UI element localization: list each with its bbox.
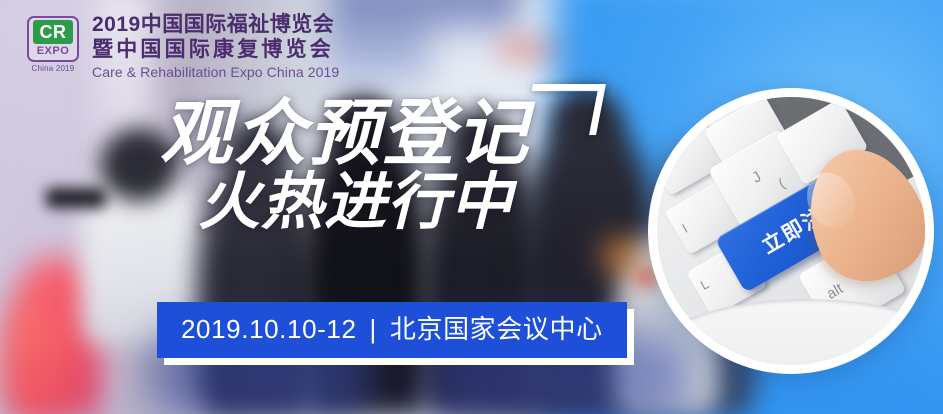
event-info-text: 2019.10.10-12|北京国家会议中心 xyxy=(181,313,603,345)
background-accent-orange xyxy=(600,236,644,276)
expo-logo-lockup: CR EXPO China 2019 2019中国国际福祉博览会 暨中国国际康复… xyxy=(24,12,339,81)
event-date: 2019.10.10-12 xyxy=(181,314,357,344)
expo-title-en: Care & Rehabilitation Expo China 2019 xyxy=(92,63,339,81)
corner-bracket-decoration xyxy=(523,84,606,135)
headline-line-1: 观众预登记 xyxy=(160,96,530,172)
info-separator: | xyxy=(357,313,390,345)
register-photo-circle: J ( I L alt 立即注册 xyxy=(648,88,934,374)
event-info-bar: 2019.10.10-12|北京国家会议中心 xyxy=(157,302,627,358)
logo-cr-text: CR xyxy=(33,20,73,44)
headline-line-2: 火热进行中 xyxy=(198,170,530,236)
expo-title-cn-line1: 2019中国国际福祉博览会 xyxy=(92,12,339,37)
logo-badge: CR EXPO xyxy=(27,16,79,62)
headline-block: 观众预登记 火热进行中 xyxy=(160,96,530,236)
event-venue: 北京国家会议中心 xyxy=(390,314,603,344)
keyboard-bottom-edge xyxy=(657,299,925,365)
event-banner: CR EXPO China 2019 2019中国国际福祉博览会 暨中国国际康复… xyxy=(0,0,943,414)
logo-year-text: China 2019 xyxy=(32,64,75,73)
keyboard-photo: J ( I L alt 立即注册 xyxy=(657,97,925,365)
background-dark-bar xyxy=(46,188,106,208)
expo-title-cn-line2: 暨中国国际康复博览会 xyxy=(92,37,339,62)
cr-expo-logo-icon: CR EXPO China 2019 xyxy=(24,16,82,78)
expo-title-block: 2019中国国际福祉博览会 暨中国国际康复博览会 Care & Rehabili… xyxy=(92,12,339,81)
background-person-pink-shadow xyxy=(0,300,70,414)
logo-expo-text: EXPO xyxy=(37,45,70,58)
